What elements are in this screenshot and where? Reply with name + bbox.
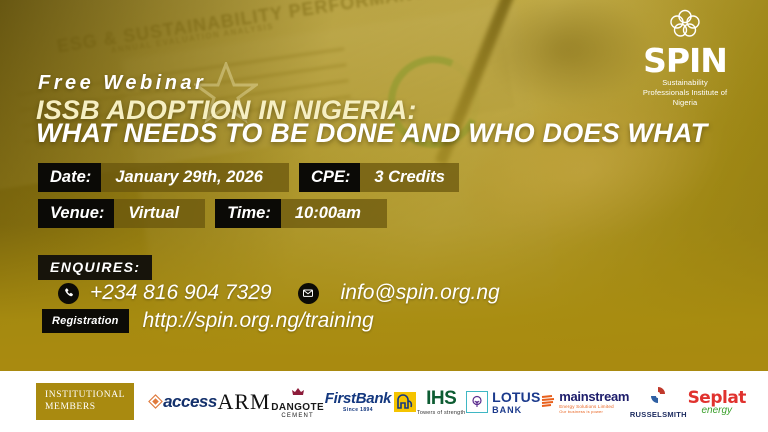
logo-dangote-text: DANGOTE (271, 402, 324, 413)
logo-seplat-energy: Seplat energy (688, 388, 746, 416)
phone-icon (58, 283, 79, 304)
logo-ihs: IHS Towers of strength (417, 388, 466, 416)
registration-row: Registration http://spin.org.ng/training (42, 309, 374, 333)
spin-flower-icon (620, 8, 750, 43)
enquiries-contact-row: +234 816 904 7329 info@spin.org.ng (58, 281, 500, 305)
detail-cpe-label: CPE: (299, 163, 360, 192)
webinar-banner: ESG & SUSTAINABILITY PERFORMANCE ANNUAL … (0, 0, 768, 432)
firstbank-elephant-icon (394, 392, 416, 412)
spin-wordmark: SPIN (620, 45, 750, 76)
detail-time-label: Time: (215, 199, 281, 228)
detail-cpe-value: 3 Credits (360, 163, 459, 192)
logo-mainstream-sub2: Our business is power (559, 409, 629, 414)
logo-lotus-sub: BANK (492, 405, 540, 415)
spin-logo: SPIN Sustainability Professionals Instit… (620, 8, 750, 107)
logo-access-text: access (163, 392, 217, 412)
page-title-line-2: WHAT NEEDS TO BE DONE AND WHO DOES WHAT (36, 118, 707, 149)
spin-tagline-line-2: Professionals Institute of (620, 88, 750, 98)
logo-ihs-text: IHS (417, 388, 466, 410)
detail-date-value: January 29th, 2026 (101, 163, 289, 192)
registration-url[interactable]: http://spin.org.ng/training (143, 309, 374, 333)
enquiries-phone[interactable]: +234 816 904 7329 (90, 281, 272, 305)
logo-arm: ARM (217, 389, 270, 415)
envelope-icon (298, 283, 319, 304)
logo-ihs-sub: Towers of strength (417, 410, 466, 416)
detail-venue: Venue: Virtual (38, 199, 205, 228)
detail-date-label: Date: (38, 163, 101, 192)
detail-venue-label: Venue: (38, 199, 114, 228)
event-details: Date: January 29th, 2026 CPE: 3 Credits … (38, 163, 469, 235)
logo-access: access (148, 392, 217, 412)
detail-time: Time: 10:00am (215, 199, 387, 228)
dangote-eagle-icon (290, 388, 306, 397)
eyebrow-free-webinar: Free Webinar (38, 72, 206, 95)
enquiries-email-group: info@spin.org.ng (298, 281, 500, 305)
logo-firstbank-sub: Since 1894 (325, 407, 392, 413)
logo-lotus-bank: LOTUS BANK (466, 389, 540, 415)
logo-mainstream-text: mainstream (559, 389, 629, 404)
institutional-members-label: INSTITUTIONAL MEMBERS (36, 383, 134, 421)
logo-dangote-sub: CEMENT (271, 413, 324, 419)
detail-time-value: 10:00am (281, 199, 387, 228)
event-details-row: Date: January 29th, 2026 CPE: 3 Credits (38, 163, 469, 192)
russelsmith-swirl-icon (646, 385, 670, 405)
enquiries-label: ENQUIRES: (38, 255, 152, 280)
logo-lotus-text: LOTUS (492, 389, 540, 405)
mainstream-flame-icon (541, 394, 559, 410)
spin-tagline: Sustainability Professionals Institute o… (620, 78, 750, 107)
spin-tagline-line-3: Nigeria (620, 98, 750, 108)
logo-russelsmith: RUSSELSMITH (630, 385, 687, 419)
institutional-members-line-2: MEMBERS (45, 402, 125, 414)
spin-tagline-line-1: Sustainability (620, 78, 750, 88)
event-details-row: Venue: Virtual Time: 10:00am (38, 199, 469, 228)
logo-firstbank-text: FirstBank (325, 390, 392, 407)
access-diamond-icon (148, 394, 163, 409)
logo-firstbank: FirstBank Since 1894 (325, 390, 417, 413)
detail-venue-value: Virtual (114, 199, 205, 228)
logo-mainstream-energy: mainstream Energy Solutions Limited Our … (541, 389, 629, 414)
registration-badge: Registration (42, 309, 129, 333)
institutional-members-line-1: INSTITUTIONAL (45, 390, 125, 402)
member-logo-list: access ARM DANGOTE CEMENT (148, 384, 760, 419)
footer-institutional-members: INSTITUTIONAL MEMBERS access ARM (0, 371, 768, 432)
logo-russelsmith-text: RUSSELSMITH (630, 410, 687, 419)
detail-cpe: CPE: 3 Credits (299, 163, 459, 192)
enquiries-email[interactable]: info@spin.org.ng (341, 281, 500, 305)
logo-arm-text: ARM (217, 389, 270, 415)
detail-date: Date: January 29th, 2026 (38, 163, 289, 192)
logo-dangote-cement: DANGOTE CEMENT (271, 384, 324, 419)
lotus-tree-icon (466, 391, 488, 413)
